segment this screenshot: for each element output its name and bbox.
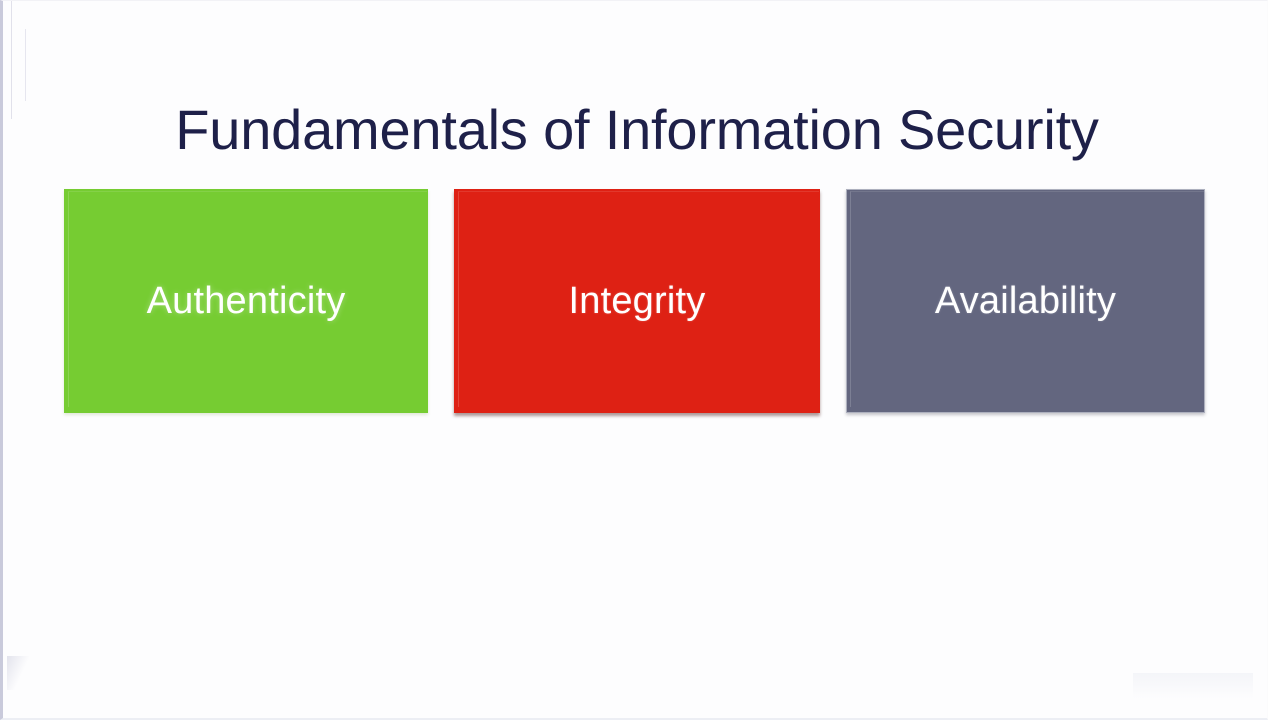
page-title: Fundamentals of Information Security bbox=[3, 97, 1268, 162]
concept-card-label: Integrity bbox=[569, 280, 706, 323]
concept-card-label: Authenticity bbox=[147, 280, 346, 323]
concept-card-row: Authenticity Integrity Availability bbox=[64, 189, 1205, 413]
bottom-right-artifact bbox=[1133, 673, 1253, 699]
presentation-slide: Fundamentals of Information Security Aut… bbox=[0, 0, 1268, 720]
concept-card-integrity[interactable]: Integrity bbox=[454, 189, 820, 413]
concept-card-availability[interactable]: Availability bbox=[846, 189, 1205, 413]
concept-card-label: Availability bbox=[935, 280, 1116, 323]
left-edge-artifact-secondary bbox=[25, 29, 26, 101]
bottom-left-artifact bbox=[7, 656, 29, 690]
concept-card-authenticity[interactable]: Authenticity bbox=[64, 189, 428, 413]
